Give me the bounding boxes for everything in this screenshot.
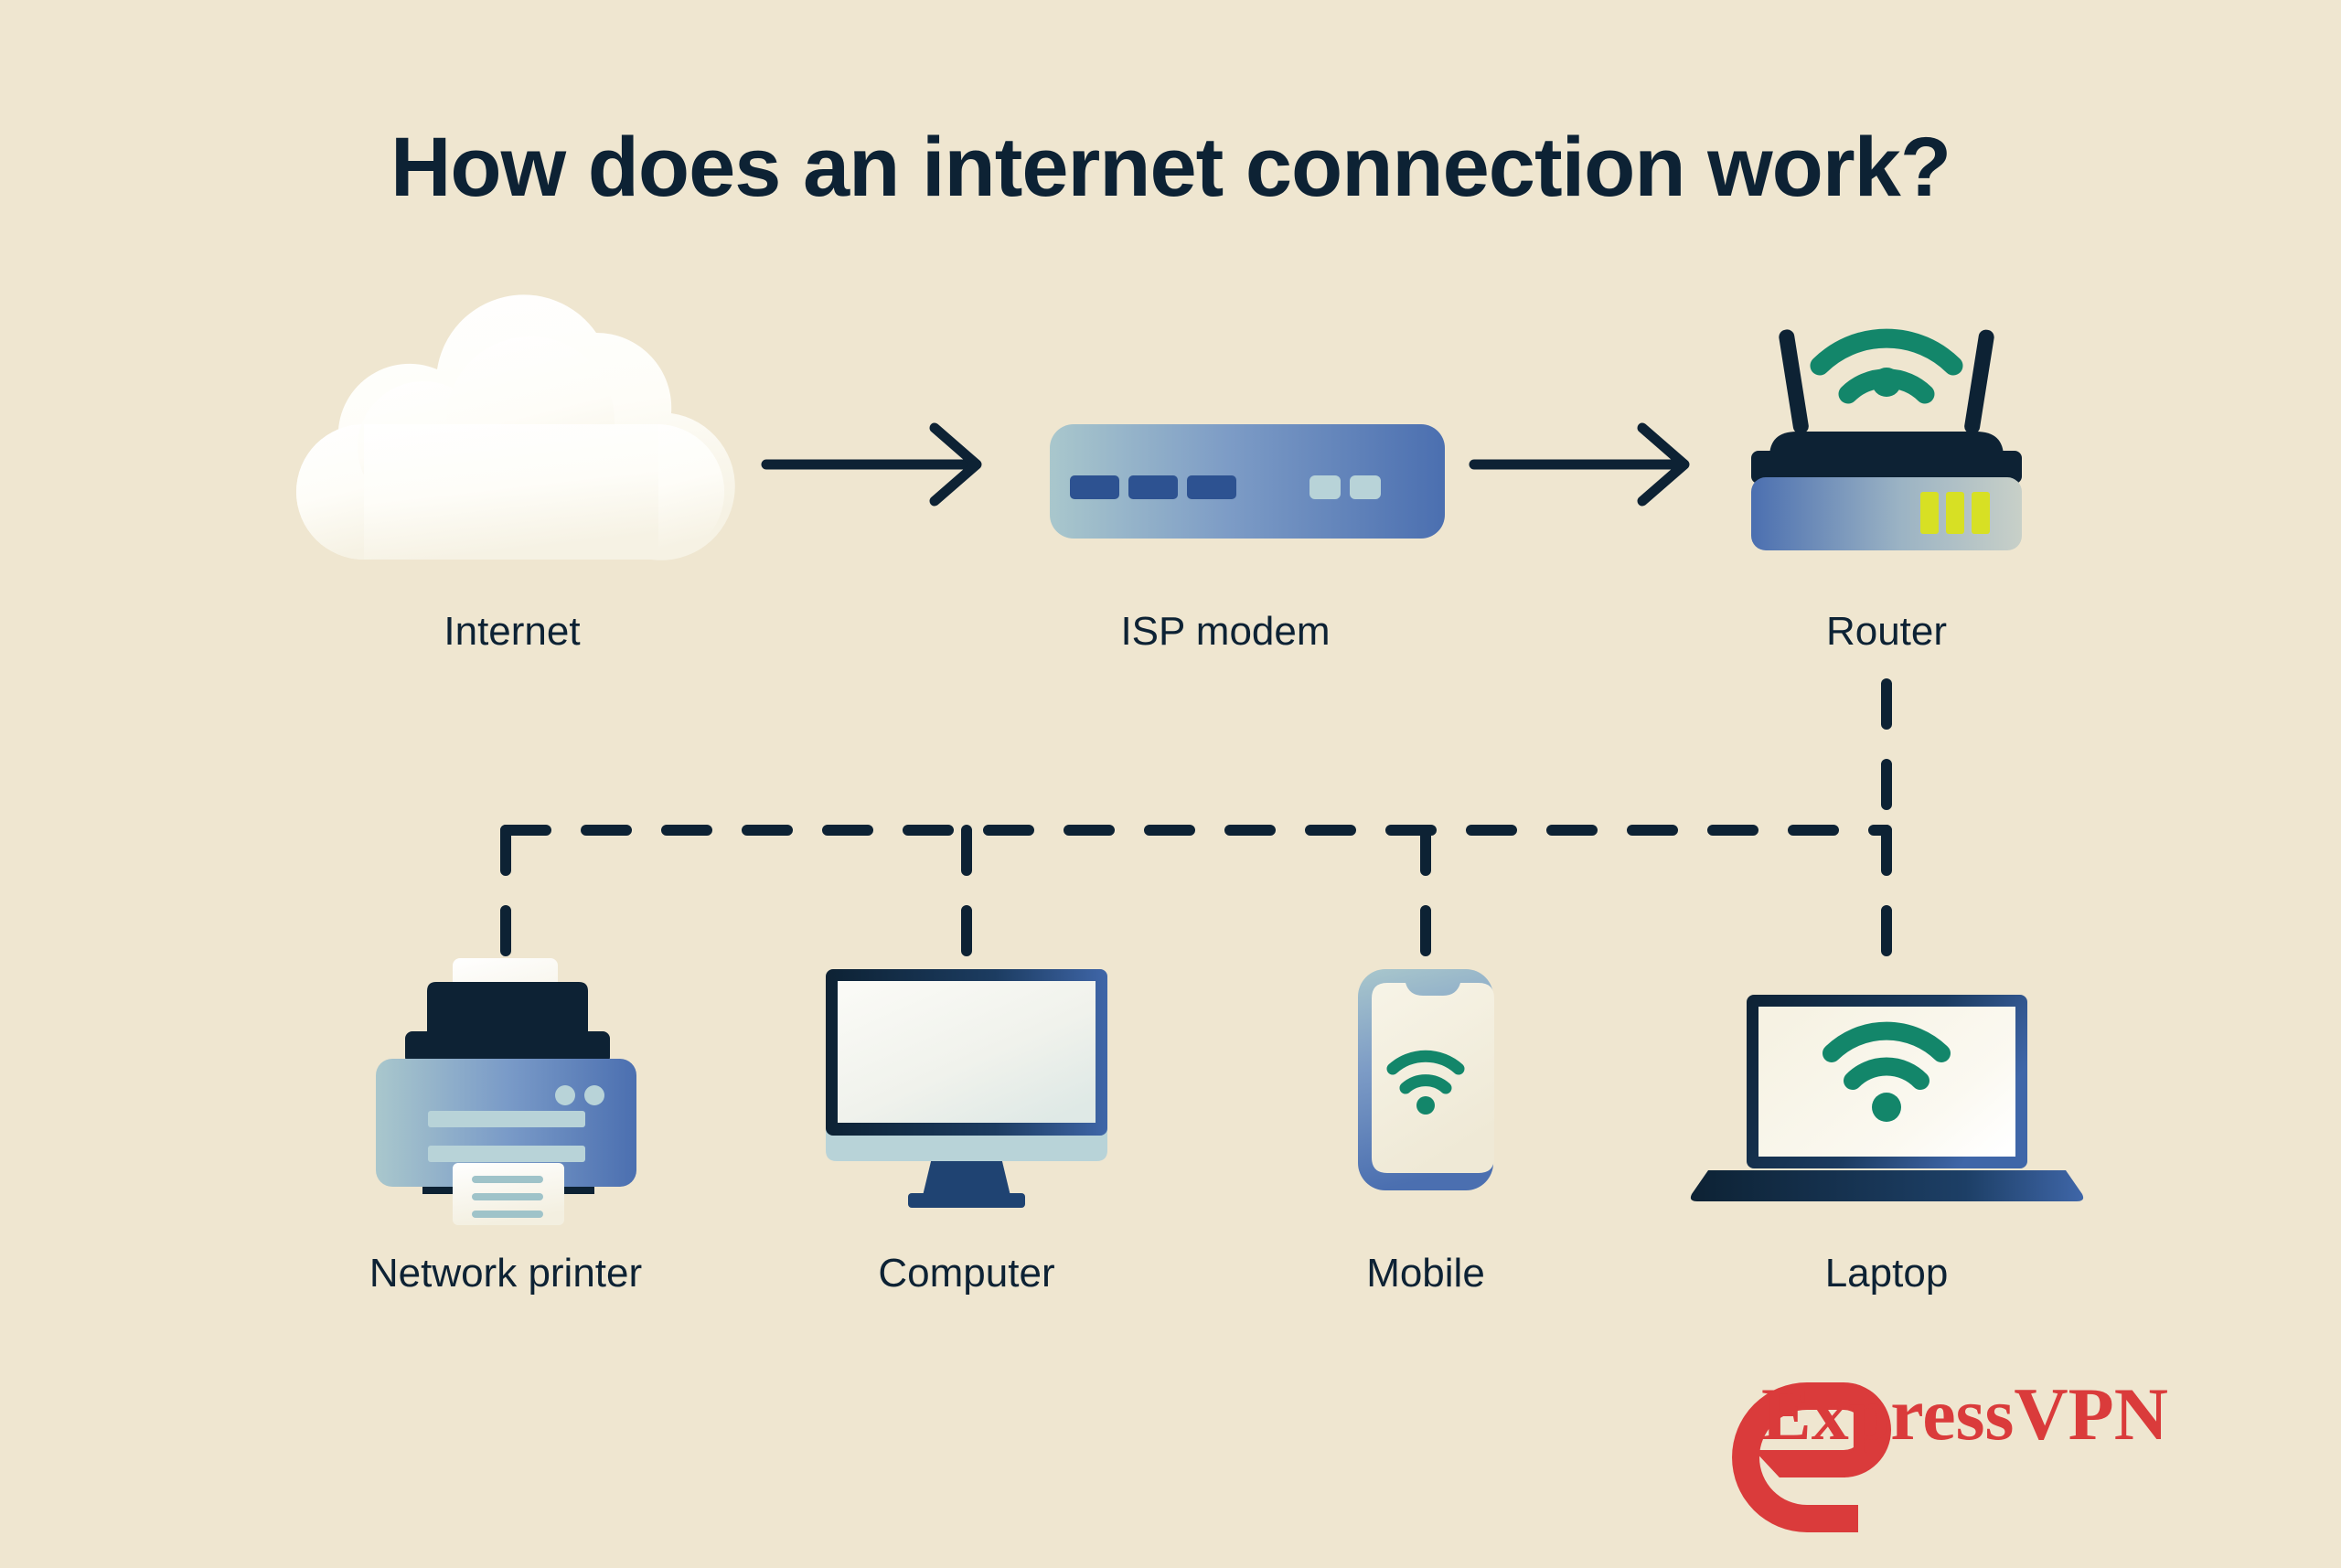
- arrow-modem-to-router: [1474, 428, 1684, 501]
- arrow-internet-to-modem: [766, 428, 977, 501]
- expressvpn-brand: ExpressVPN: [1737, 1360, 2167, 1469]
- label-network-printer: Network printer: [369, 1251, 642, 1296]
- label-laptop: Laptop: [1825, 1251, 1949, 1296]
- label-mobile: Mobile: [1366, 1251, 1485, 1296]
- label-computer: Computer: [878, 1251, 1054, 1296]
- phone-icon: [1358, 969, 1494, 1190]
- label-isp-modem: ISP modem: [1120, 609, 1330, 655]
- diagram-graphics: [0, 0, 2341, 1568]
- router-wifi-icon: [1820, 338, 1953, 397]
- diagram-canvas: How does an internet connection work?: [0, 0, 2341, 1568]
- label-router: Router: [1826, 609, 1947, 655]
- network-bus-dashed: [506, 684, 1887, 967]
- label-internet: Internet: [444, 609, 580, 655]
- laptop-icon: [1691, 995, 2083, 1201]
- modem-icon: [1050, 424, 1445, 539]
- monitor-icon: [826, 969, 1107, 1208]
- cloud-icon: [296, 294, 735, 560]
- router-icon: [1751, 328, 2022, 550]
- brand-wordmark: ExpressVPN: [1761, 1377, 2168, 1452]
- printer-icon: [376, 958, 636, 1225]
